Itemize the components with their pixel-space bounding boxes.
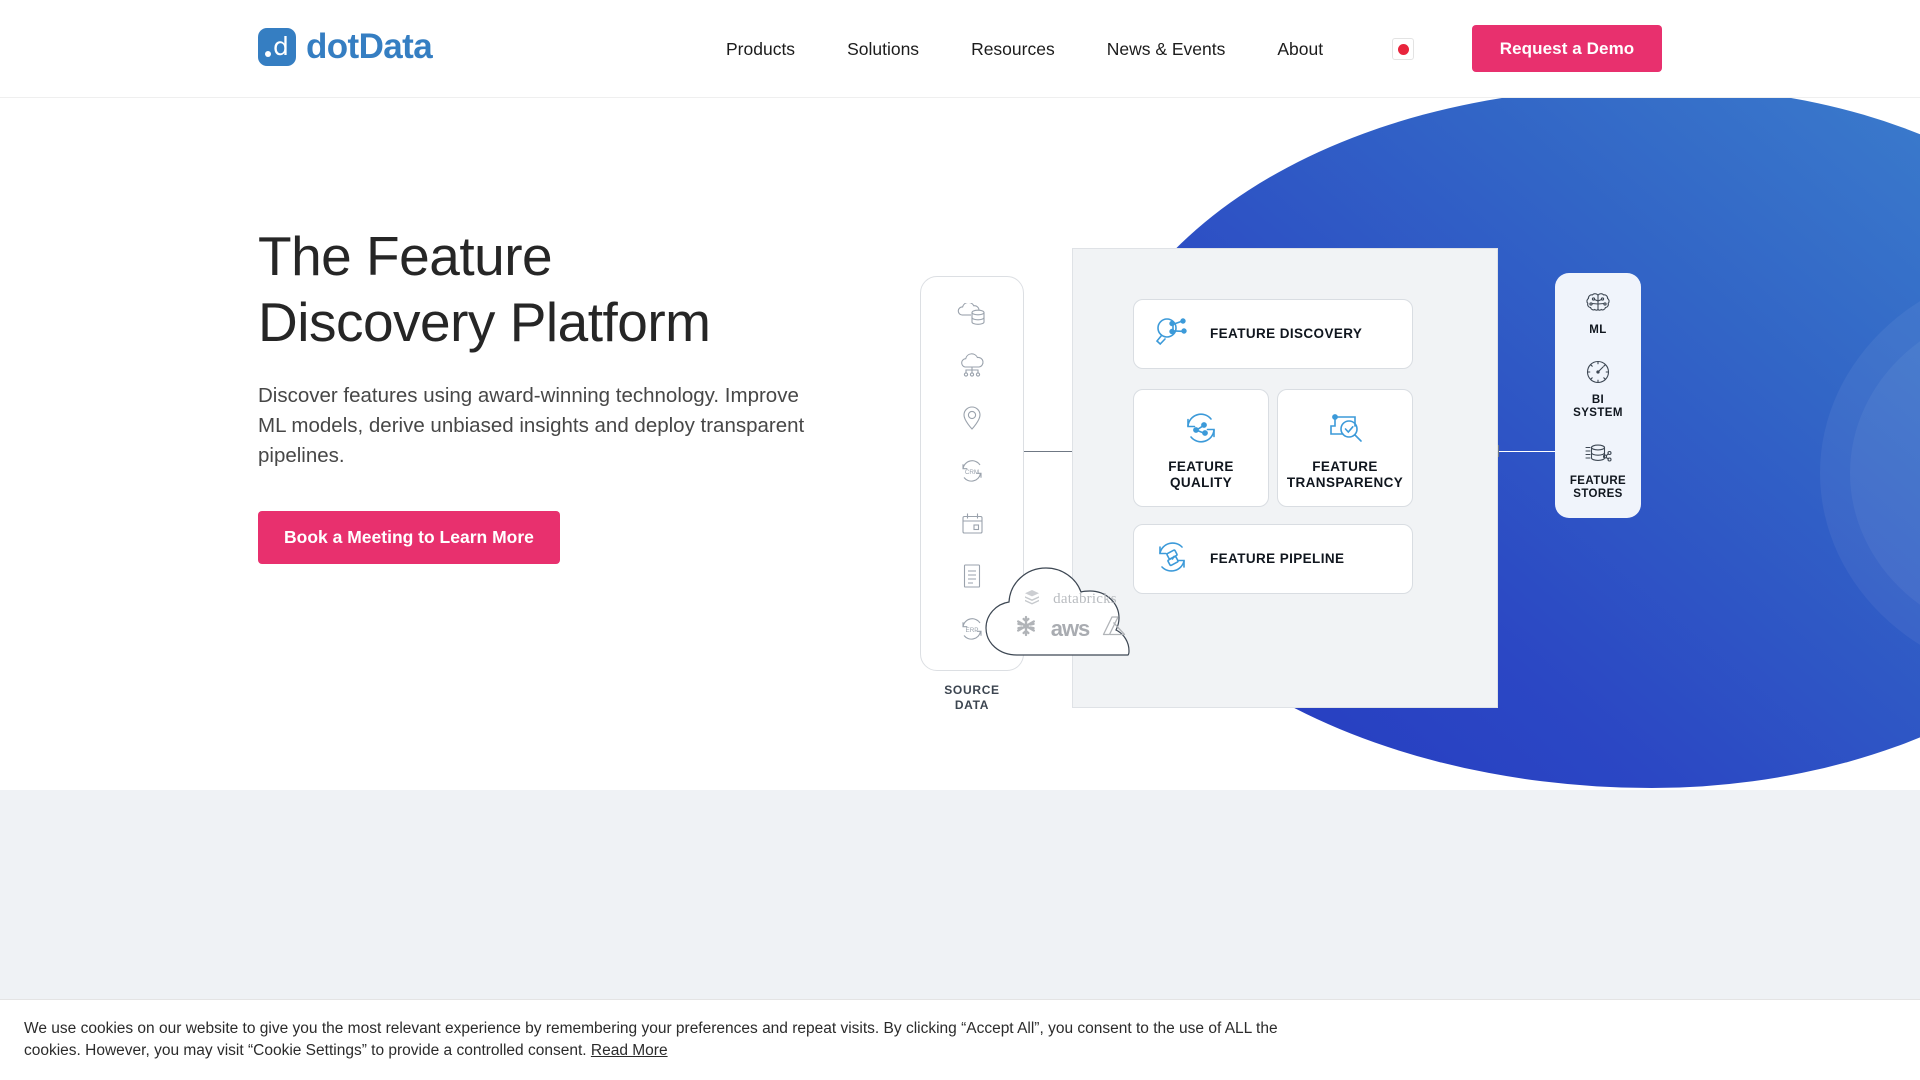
hero-title: The Feature Discovery Platform xyxy=(258,223,838,355)
logo-text: dotData xyxy=(306,27,432,67)
card-feature-quality[interactable]: FEATURE QUALITY xyxy=(1133,389,1269,507)
source-data-label-line1: SOURCE xyxy=(944,683,1000,697)
location-pin-icon xyxy=(959,404,985,432)
card-feature-pipeline[interactable]: FEATURE PIPELINE xyxy=(1133,524,1413,594)
connector-tick-right xyxy=(1498,445,1499,457)
card-label-feature-discovery: FEATURE DISCOVERY xyxy=(1210,326,1362,342)
hero-title-line2: Discovery Platform xyxy=(258,291,710,353)
platform-architecture-diagram: CRM xyxy=(900,138,1700,758)
azure-logo-icon xyxy=(1101,614,1127,643)
hero-title-line1: The Feature xyxy=(258,225,552,287)
nav-item-about[interactable]: About xyxy=(1251,39,1349,60)
hero-subtitle: Discover features using award-winning te… xyxy=(258,381,818,471)
databricks-label: databricks xyxy=(1053,591,1117,608)
feature-transparency-icon xyxy=(1322,406,1368,455)
card-feature-discovery[interactable]: FEATURE DISCOVERY xyxy=(1133,299,1413,369)
connector-source-to-platform xyxy=(1024,451,1072,452)
cookie-banner: We use cookies on our website to give yo… xyxy=(0,999,1920,1080)
nav-item-resources[interactable]: Resources xyxy=(945,39,1081,60)
svg-text:CRM: CRM xyxy=(965,469,979,476)
request-demo-button[interactable]: Request a Demo xyxy=(1472,25,1662,72)
output-label-bi-system: BI SYSTEM xyxy=(1573,394,1623,421)
crm-cycle-icon: CRM xyxy=(956,456,988,486)
dotdata-logo-icon: d xyxy=(258,28,296,66)
output-column: ML BI SYSTEM xyxy=(1555,273,1641,518)
output-item-feature-stores[interactable]: FEATURE STORES xyxy=(1570,436,1626,507)
snowflake-logo-icon xyxy=(1013,613,1039,644)
output-item-ml[interactable]: ML xyxy=(1583,285,1613,343)
feature-quality-icon xyxy=(1178,406,1224,455)
cookie-read-more-link[interactable]: Read More xyxy=(591,1042,668,1059)
card-label-feature-quality: FEATURE QUALITY xyxy=(1168,459,1234,491)
feature-store-icon xyxy=(1582,441,1614,472)
source-data-label-line2: DATA xyxy=(955,698,989,712)
cookie-banner-text: We use cookies on our website to give yo… xyxy=(24,1018,1314,1062)
nav-item-products[interactable]: Products xyxy=(700,39,821,60)
gauge-icon xyxy=(1584,358,1612,391)
hero-copy: The Feature Discovery Platform Discover … xyxy=(258,223,838,564)
output-label-ml: ML xyxy=(1589,324,1606,338)
cloud-platforms: databricks aws xyxy=(975,543,1165,663)
cloud-logos: databricks aws xyxy=(975,543,1165,663)
connector-platform-to-output xyxy=(1498,451,1555,452)
databricks-logo-icon xyxy=(1023,588,1041,611)
page-root: d dotData Products Solutions Resources N… xyxy=(0,0,1920,1080)
book-meeting-button[interactable]: Book a Meeting to Learn More xyxy=(258,511,560,564)
output-item-bi-system[interactable]: BI SYSTEM xyxy=(1573,353,1623,426)
feature-discovery-icon xyxy=(1152,312,1194,357)
output-label-feature-stores: FEATURE STORES xyxy=(1570,475,1626,502)
main-nav: Products Solutions Resources News & Even… xyxy=(700,0,1349,98)
nav-item-news-events[interactable]: News & Events xyxy=(1081,39,1252,60)
cloud-database-icon xyxy=(957,303,987,329)
aws-logo-icon: aws xyxy=(1051,620,1090,638)
logo[interactable]: d dotData xyxy=(258,27,432,67)
calendar-icon xyxy=(959,510,986,537)
site-header: d dotData Products Solutions Resources N… xyxy=(0,0,1920,98)
cloud-network-icon xyxy=(957,353,987,379)
card-label-feature-pipeline: FEATURE PIPELINE xyxy=(1210,551,1344,567)
card-feature-transparency[interactable]: FEATURE TRANSPARENCY xyxy=(1277,389,1413,507)
nav-item-solutions[interactable]: Solutions xyxy=(821,39,945,60)
source-data-label: SOURCE DATA xyxy=(900,683,1044,713)
brain-icon xyxy=(1583,290,1613,321)
japan-flag-icon[interactable] xyxy=(1392,38,1414,60)
card-label-feature-transparency: FEATURE TRANSPARENCY xyxy=(1287,459,1403,491)
hero-section: The Feature Discovery Platform Discover … xyxy=(0,98,1920,790)
